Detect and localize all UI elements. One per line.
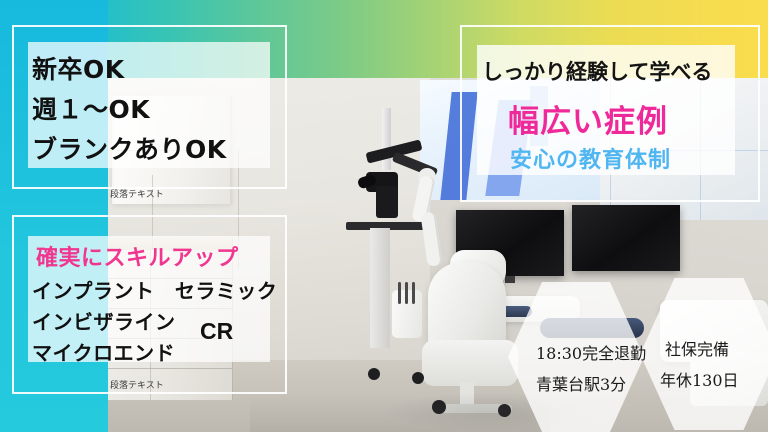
photo-microscope-body: [376, 186, 398, 218]
bl-line-2: インビザライン: [32, 306, 176, 335]
bl-badge-cr: CR: [200, 318, 233, 345]
photo-microscope-column: [370, 228, 390, 348]
photo-instrument-2: [405, 282, 408, 304]
photo-instrument-3: [412, 282, 415, 304]
tr-line-1: しっかり経験して学べる: [482, 56, 712, 86]
photo-microscope-post: [382, 108, 391, 170]
tl-line-2: 週１〜OK: [32, 90, 150, 126]
recruitment-banner: 新卒OK 週１〜OK ブランクありOK 段落テキスト 確実にスキルアップ インプ…: [0, 0, 768, 432]
bl-caption: 段落テキスト: [110, 378, 164, 391]
photo-monitor-right: [572, 205, 680, 271]
hex-right-line-1: 社保完備: [665, 336, 729, 360]
tr-line-2: 幅広い症例: [508, 96, 668, 141]
bl-line-3: マイクロエンド: [32, 337, 175, 366]
tl-line-1: 新卒OK: [32, 50, 125, 86]
hex-left-line-1: 18:30完全退勤: [536, 340, 646, 364]
tl-line-3: ブランクありOK: [32, 130, 227, 166]
hex-left-line-2: 青葉台駅3分: [536, 371, 626, 395]
tl-caption: 段落テキスト: [110, 187, 164, 200]
photo-caster-3: [368, 368, 380, 380]
photo-monitor-stand: [505, 276, 515, 283]
photo-instrument-1: [398, 282, 401, 304]
photo-caster-4: [412, 372, 424, 384]
photo-chair-seat: [422, 340, 518, 386]
tr-line-3: 安心の教育体制: [510, 142, 671, 174]
bl-line-1: インプラント セラミック: [32, 275, 277, 304]
bl-heading: 確実にスキルアップ: [36, 240, 239, 272]
hex-right-line-2: 年休130日: [660, 367, 739, 391]
